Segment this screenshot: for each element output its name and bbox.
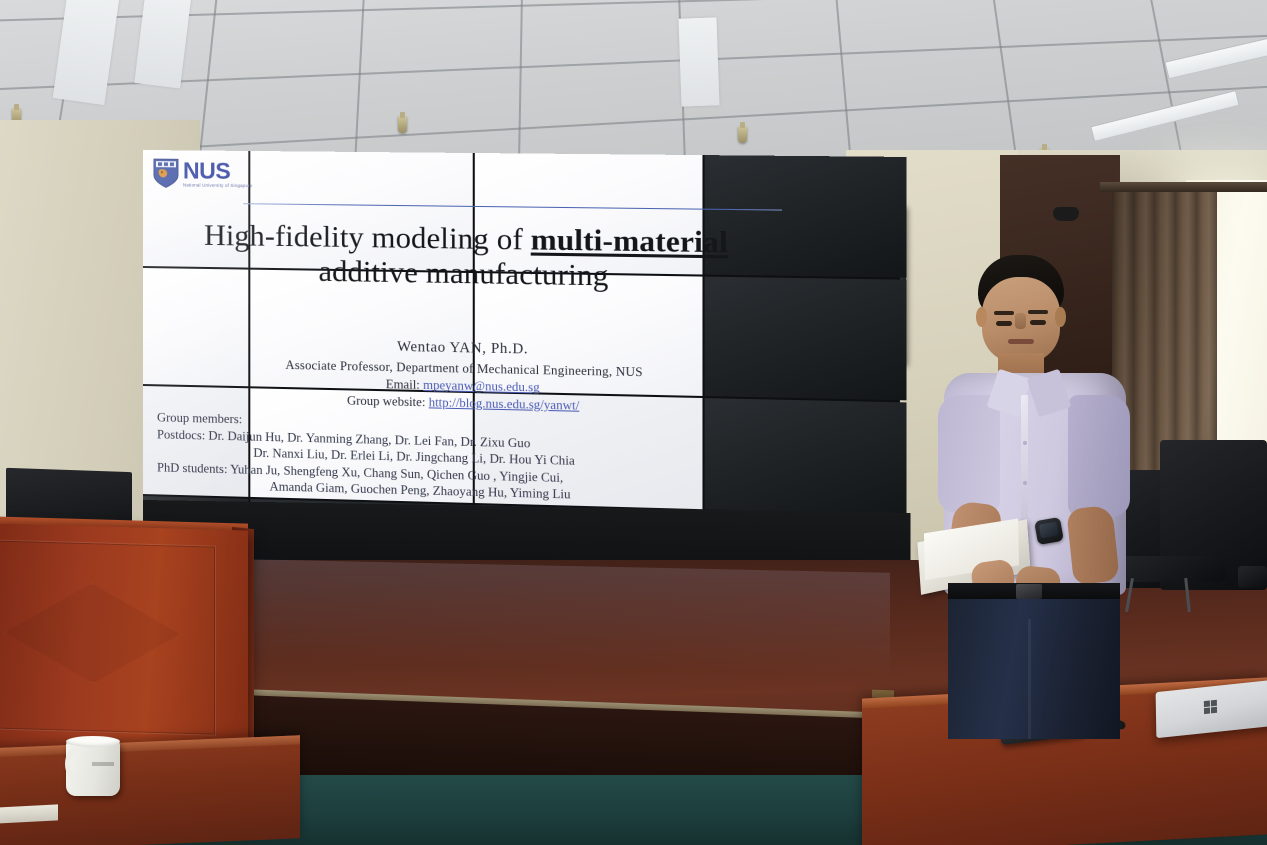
presenter-mouth [1008, 339, 1034, 344]
presenter [920, 255, 1150, 735]
podium-diamond-detail [4, 582, 181, 684]
smartwatch [1034, 517, 1064, 545]
presenter-sleeve [1068, 395, 1130, 517]
display-panel [475, 153, 703, 274]
display-panel [250, 270, 472, 391]
shirt-button [1023, 441, 1027, 445]
sprinkler-head-icon [738, 126, 747, 143]
display-panel-off [705, 398, 907, 515]
presenter-trousers [948, 599, 1120, 739]
display-panel [475, 273, 703, 396]
display-panel [143, 386, 248, 497]
presenter-ear [1055, 307, 1066, 327]
podium-front-inset [0, 540, 216, 736]
display-panel [250, 388, 472, 503]
coffee-mug[interactable] [66, 740, 120, 796]
presenter-sleeve [938, 395, 1000, 513]
wooden-podium [0, 523, 248, 758]
presenter-nose [1015, 313, 1026, 329]
display-panel-off [705, 155, 907, 277]
presenter-eye [996, 321, 1012, 326]
mug-logo [92, 762, 114, 766]
stage-reflection [150, 557, 890, 693]
presenter-forearm [1066, 505, 1120, 585]
laptop-brand-logo-icon [1204, 700, 1217, 714]
ceiling-camera-icon [1053, 207, 1079, 221]
presenter-ear [976, 307, 987, 327]
display-panel [143, 268, 248, 386]
display-panel [250, 151, 472, 271]
sprinkler-head-icon [398, 116, 407, 133]
conference-room-scene: NUS National University of Singapore Hig… [0, 0, 1267, 845]
office-chair[interactable] [1238, 566, 1267, 588]
curtain-rod [1100, 182, 1267, 192]
printed-notes[interactable] [0, 804, 58, 823]
presenter-eyebrow [1028, 310, 1048, 314]
presenter-eyebrow [994, 311, 1014, 315]
display-panel [475, 393, 703, 509]
display-panel-off [705, 277, 907, 401]
presenter-belt-buckle [1016, 584, 1042, 599]
shirt-button [1023, 481, 1027, 485]
display-panel [143, 150, 248, 268]
mug-rim [66, 736, 120, 747]
presenter-eye [1030, 320, 1046, 325]
ceiling-light-panel [678, 17, 719, 106]
